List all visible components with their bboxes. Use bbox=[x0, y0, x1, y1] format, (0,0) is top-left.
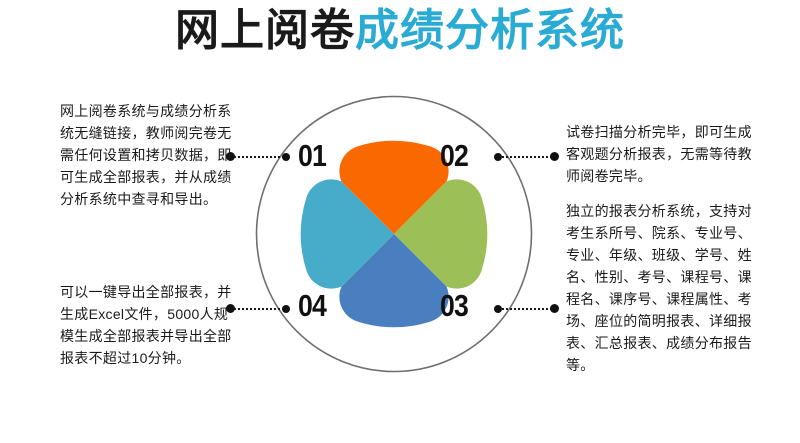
callout-text-01: 网上阅卷系统与成绩分析系统无缝链接，教师阅完卷无需任何设置和拷贝数据，即可生成全… bbox=[60, 100, 232, 210]
callout-text-03: 独立的报表分析系统，支持对考生系所号、院系、专业号、专业、年级、班级、学号、姓名… bbox=[566, 200, 756, 376]
connector-03 bbox=[494, 303, 560, 314]
connector-03-dotted-line bbox=[502, 308, 552, 310]
connector-01-inner-dot bbox=[282, 153, 290, 161]
page-title-accent-text: 成绩分析系统 bbox=[355, 6, 625, 55]
connector-03-inner-dot bbox=[494, 305, 502, 313]
connector-02 bbox=[494, 151, 560, 162]
page-title: 网上阅卷成绩分析系统 bbox=[0, 2, 800, 60]
connector-04-dotted-line bbox=[234, 308, 284, 310]
circular-diagram bbox=[252, 92, 536, 376]
callout-text-02: 试卷扫描分析完毕，即可生成客观题分析报表，无需等待教师阅卷完毕。 bbox=[566, 121, 752, 187]
connector-03-outer-dot bbox=[550, 304, 559, 313]
connector-01-dotted-line bbox=[234, 156, 284, 158]
connector-01 bbox=[226, 151, 292, 162]
connector-04 bbox=[226, 303, 292, 314]
connector-02-outer-dot bbox=[550, 152, 559, 161]
connector-02-inner-dot bbox=[494, 153, 502, 161]
connector-04-inner-dot bbox=[282, 305, 290, 313]
page-title-dark-text: 网上阅卷 bbox=[175, 6, 355, 55]
segment-number-01: 01 bbox=[290, 140, 335, 171]
segment-number-03: 03 bbox=[432, 290, 477, 321]
segment-number-02: 02 bbox=[432, 140, 477, 171]
segment-number-04: 04 bbox=[290, 290, 335, 321]
connector-02-dotted-line bbox=[502, 156, 552, 158]
callout-text-04: 可以一键导出全部报表，并生成Excel文件，5000人规模生成全部报表并导出全部… bbox=[60, 281, 232, 369]
